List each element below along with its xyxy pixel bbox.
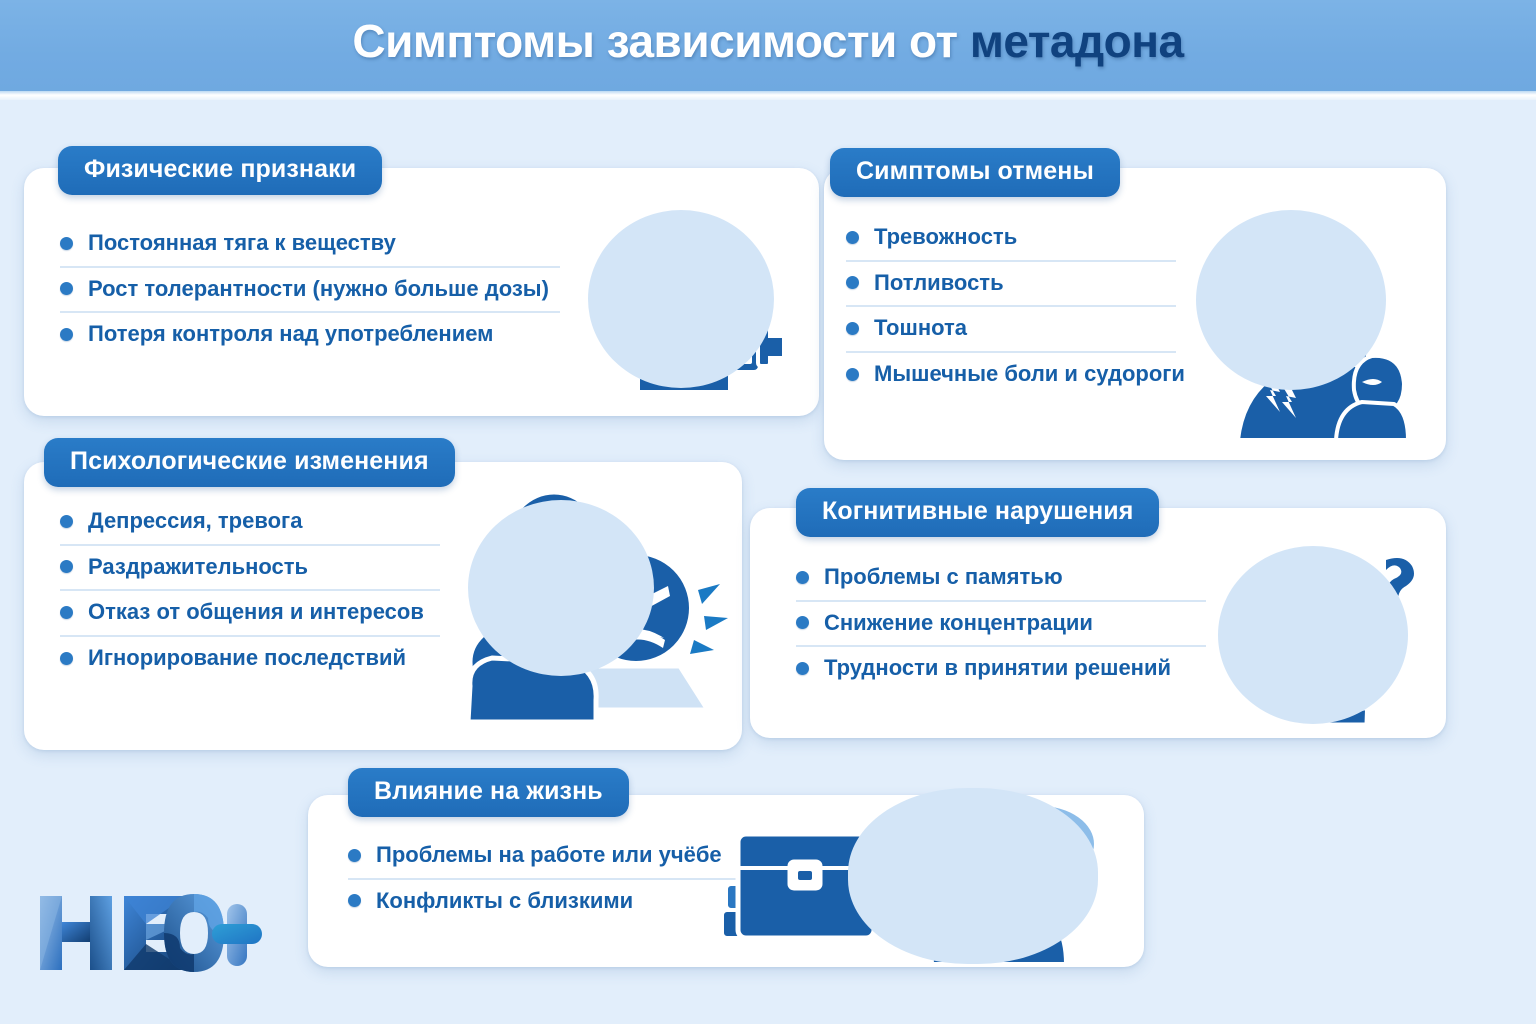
list-item-label: Конфликты с близкими	[376, 889, 633, 914]
bullet-dot-icon	[60, 515, 73, 528]
bullet-dot-icon	[348, 894, 361, 907]
list-item-label: Проблемы с памятью	[824, 565, 1063, 590]
bullet-dot-icon	[796, 616, 809, 629]
bullet-dot-icon	[60, 652, 73, 665]
bullet-dot-icon	[846, 322, 859, 335]
card-physical-list: Постоянная тяга к веществу Рост толерант…	[60, 222, 560, 357]
list-item: Потеря контроля над употреблением	[60, 313, 560, 357]
brand-logo	[34, 888, 264, 978]
list-item-label: Депрессия, тревога	[88, 509, 302, 534]
card-life-impact-list: Проблемы на работе или учёбе Конфликты с…	[348, 834, 748, 923]
list-item-label: Отказ от общения и интересов	[88, 600, 424, 625]
list-item: Тошнота	[846, 307, 1176, 353]
list-item-label: Постоянная тяга к веществу	[88, 231, 396, 256]
bullet-dot-icon	[60, 282, 73, 295]
list-item-label: Тревожность	[874, 225, 1017, 250]
list-item: Тревожность	[846, 216, 1176, 262]
bullet-dot-icon	[60, 328, 73, 341]
brain-head-question-icon	[1210, 540, 1426, 730]
list-item: Трудности в принятии решений	[796, 647, 1206, 691]
page-title-accent: метадона	[970, 15, 1184, 67]
list-item-label: Тошнота	[874, 316, 967, 341]
list-item: Постоянная тяга к веществу	[60, 222, 560, 268]
bullet-dot-icon	[60, 606, 73, 619]
list-item-label: Игнорирование последствий	[88, 646, 406, 671]
list-item-label: Потеря контроля над употреблением	[88, 322, 493, 347]
bullet-dot-icon	[846, 231, 859, 244]
card-life-impact-badge: Влияние на жизнь	[348, 768, 629, 817]
list-item-label: Трудности в принятии решений	[824, 656, 1171, 681]
list-item: Проблемы с памятью	[796, 556, 1206, 602]
briefcase-books-people-icon	[718, 778, 1118, 964]
bullet-dot-icon	[348, 849, 361, 862]
bullet-dot-icon	[846, 276, 859, 289]
bullet-dot-icon	[60, 560, 73, 573]
sweating-person-cramps-icon	[1186, 196, 1436, 444]
card-psychological-badge: Психологические изменения	[44, 438, 455, 487]
card-cognitive-list: Проблемы с памятью Снижение концентрации…	[796, 556, 1206, 691]
bullet-dot-icon	[60, 237, 73, 250]
page-title-primary: Симптомы зависимости от	[352, 15, 969, 67]
list-item-label: Мышечные боли и судороги	[874, 362, 1185, 387]
bullet-dot-icon	[846, 368, 859, 381]
stressed-person-syringe-icon	[572, 196, 792, 396]
card-withdrawal-badge: Симптомы отмены	[830, 148, 1120, 197]
bullet-dot-icon	[796, 662, 809, 675]
card-cognitive-badge: Когнитивные нарушения	[796, 488, 1159, 537]
list-item: Отказ от общения и интересов	[60, 591, 440, 637]
list-item: Конфликты с близкими	[348, 880, 748, 924]
list-item: Мышечные боли и судороги	[846, 353, 1176, 397]
list-item-label: Снижение концентрации	[824, 611, 1093, 636]
bullet-dot-icon	[796, 571, 809, 584]
list-item: Потливость	[846, 262, 1176, 308]
list-item-label: Потливость	[874, 271, 1004, 296]
card-psychological-list: Депрессия, тревога Раздражительность Отк…	[60, 500, 440, 681]
list-item: Проблемы на работе или учёбе	[348, 834, 748, 880]
card-withdrawal-list: Тревожность Потливость Тошнота Мышечные …	[846, 216, 1176, 397]
list-item: Депрессия, тревога	[60, 500, 440, 546]
page-title: Симптомы зависимости от метадона	[0, 14, 1536, 68]
list-item-label: Проблемы на работе или учёбе	[376, 843, 722, 868]
list-item-label: Раздражительность	[88, 555, 308, 580]
sad-angry-faces-icon	[440, 486, 730, 726]
list-item: Снижение концентрации	[796, 602, 1206, 648]
list-item: Рост толерантности (нужно больше дозы)	[60, 268, 560, 314]
list-item: Раздражительность	[60, 546, 440, 592]
list-item-label: Рост толерантности (нужно больше дозы)	[88, 277, 549, 302]
logo-letter-n	[40, 896, 112, 970]
list-item: Игнорирование последствий	[60, 637, 440, 681]
card-physical-badge: Физические признаки	[58, 146, 382, 195]
